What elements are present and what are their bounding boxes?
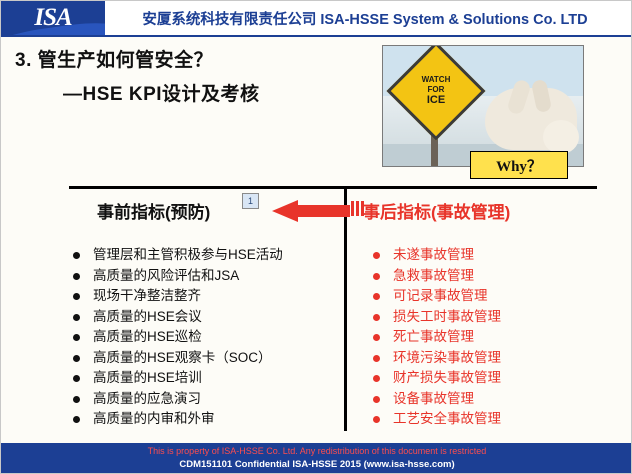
bar-3 bbox=[361, 201, 364, 216]
slide-title-line1: 3. 管生产如何管安全？ bbox=[15, 45, 213, 72]
list-item: 可记录事故管理 bbox=[371, 286, 501, 307]
polar-bear-photo: WATCH FOR ICE bbox=[382, 45, 584, 167]
sign-line2: FOR bbox=[428, 85, 445, 94]
list-item: 高质量的应急演习 bbox=[71, 389, 283, 410]
list-item: 管理层和主管积极参与HSE活动 bbox=[71, 245, 283, 266]
left-pointing-arrow-icon bbox=[272, 200, 350, 222]
list-item: 工艺安全事故管理 bbox=[371, 409, 501, 430]
arrow-tail-bars-icon bbox=[351, 201, 364, 216]
list-item: 急救事故管理 bbox=[371, 266, 501, 287]
bar-1 bbox=[351, 201, 354, 216]
list-item: 设备事故管理 bbox=[371, 389, 501, 410]
left-section-badge: 1 bbox=[242, 193, 259, 209]
arrow-shaft bbox=[296, 205, 350, 217]
list-item: 高质量的HSE会议 bbox=[71, 307, 283, 328]
bar-2 bbox=[356, 201, 359, 216]
footer-restriction-notice: This is property of ISA-HSSE Co. Ltd. An… bbox=[1, 445, 632, 458]
list-item: 现场干净整洁整齐 bbox=[71, 286, 283, 307]
list-item: 高质量的风险评估和JSA bbox=[71, 266, 283, 287]
list-item: 环境污染事故管理 bbox=[371, 348, 501, 369]
list-item: 高质量的HSE观察卡（SOC） bbox=[71, 348, 283, 369]
slide-header: ISA 安厦系统科技有限责任公司 ISA-HSSE System & Solut… bbox=[1, 1, 632, 37]
right-bullet-list: 未遂事故管理 急救事故管理 可记录事故管理 损失工时事故管理 死亡事故管理 环境… bbox=[371, 245, 501, 430]
company-title: 安厦系统科技有限责任公司 ISA-HSSE System & Solutions… bbox=[105, 8, 632, 29]
right-section-header: 事后指标(事故管理) bbox=[363, 198, 510, 223]
list-item: 损失工时事故管理 bbox=[371, 307, 501, 328]
why-callout: Why？ bbox=[470, 151, 568, 179]
list-item: 高质量的内审和外审 bbox=[71, 409, 283, 430]
vertical-divider bbox=[344, 186, 347, 431]
sign-line1: WATCH bbox=[422, 75, 451, 84]
slide-title-line2: —HSE KPI设计及考核 bbox=[63, 79, 260, 106]
slide: ISA 安厦系统科技有限责任公司 ISA-HSSE System & Solut… bbox=[0, 0, 632, 474]
list-item: 未遂事故管理 bbox=[371, 245, 501, 266]
list-item: 死亡事故管理 bbox=[371, 327, 501, 348]
slide-footer: This is property of ISA-HSSE Co. Ltd. An… bbox=[1, 443, 632, 473]
left-section-header: 事前指标(预防) bbox=[97, 198, 210, 223]
list-item: 高质量的HSE巡检 bbox=[71, 327, 283, 348]
left-bullet-list: 管理层和主管积极参与HSE活动 高质量的风险评估和JSA 现场干净整洁整齐 高质… bbox=[71, 245, 283, 430]
footer-confidential-line: CDM151101 Confidential ISA-HSSE 2015 (ww… bbox=[1, 458, 632, 471]
list-item: 高质量的HSE培训 bbox=[71, 368, 283, 389]
polar-bear-head bbox=[543, 120, 579, 154]
list-item: 财产损失事故管理 bbox=[371, 368, 501, 389]
isa-logo: ISA bbox=[1, 1, 105, 35]
arrow-head bbox=[272, 200, 298, 222]
warning-sign-text: WATCH FOR ICE bbox=[401, 56, 471, 126]
horizontal-divider bbox=[69, 186, 597, 189]
sign-line3: ICE bbox=[427, 94, 445, 107]
